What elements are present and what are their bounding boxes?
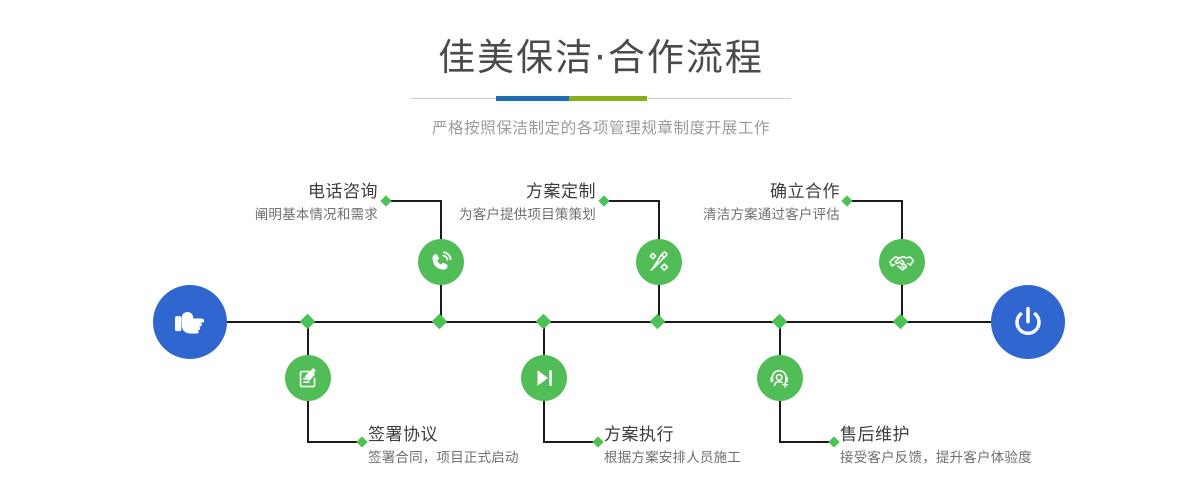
- divider-blue-segment: [496, 96, 569, 101]
- step-5-icon-node[interactable]: [879, 239, 925, 285]
- step-4-label: 方案执行 根据方案安排人员施工: [604, 425, 741, 468]
- header: 佳美保洁·合作流程 严格按照保洁制定的各项管理规章制度开展工作: [0, 0, 1202, 138]
- step-2-axis-marker: [300, 314, 316, 330]
- step-5-label-marker: [841, 195, 852, 206]
- step-2-desc: 签署合同，项目正式启动: [368, 448, 519, 468]
- step-3-icon-node[interactable]: [636, 239, 682, 285]
- step-1-title: 电话咨询: [150, 182, 378, 202]
- phone-call-icon: [428, 249, 454, 275]
- handshake-icon: [889, 249, 916, 276]
- step-3-label: 方案定制 为客户提供项目策策划: [370, 182, 596, 225]
- step-2-icon-node[interactable]: [285, 355, 331, 401]
- step-4-axis-marker: [536, 314, 552, 330]
- step-4-title: 方案执行: [604, 425, 741, 445]
- step-6-axis-marker: [772, 314, 788, 330]
- step-5-title: 确立合作: [612, 182, 840, 202]
- step-6-horizontal-connector: [779, 441, 834, 443]
- step-2-title: 签署协议: [368, 425, 519, 445]
- step-4-horizontal-connector: [543, 441, 598, 443]
- step-6-desc: 接受客户反馈，提升客户体验度: [840, 448, 1032, 468]
- step-5-label: 确立合作 清洁方案通过客户评估: [612, 182, 840, 225]
- pointing-hand-icon: [170, 302, 210, 342]
- step-3-title: 方案定制: [370, 182, 596, 202]
- step-6-label-marker: [828, 436, 839, 447]
- headset-support-icon: [767, 365, 793, 391]
- step-4-desc: 根据方案安排人员施工: [604, 448, 741, 468]
- step-1-label: 电话咨询 阐明基本情况和需求: [150, 182, 378, 225]
- page-subtitle: 严格按照保洁制定的各项管理规章制度开展工作: [0, 116, 1202, 138]
- step-1-desc: 阐明基本情况和需求: [150, 205, 378, 225]
- step-3-label-marker: [598, 195, 609, 206]
- step-5-desc: 清洁方案通过客户评估: [612, 205, 840, 225]
- step-2-horizontal-connector: [307, 441, 362, 443]
- step-6-icon-node[interactable]: [757, 355, 803, 401]
- step-6-label: 售后维护 接受客户反馈，提升客户体验度: [840, 425, 1032, 468]
- document-edit-icon: [295, 365, 321, 391]
- title-divider: [411, 93, 791, 105]
- step-2-label: 签署协议 签署合同，项目正式启动: [368, 425, 519, 468]
- timeline-axis: [160, 321, 1042, 323]
- end-endpoint: [991, 285, 1065, 359]
- step-5-axis-marker: [893, 314, 909, 330]
- play-next-icon: [531, 365, 557, 391]
- page-title: 佳美保洁·合作流程: [0, 0, 1202, 79]
- pencil-design-icon: [646, 249, 672, 275]
- process-flow-infographic: 佳美保洁·合作流程 严格按照保洁制定的各项管理规章制度开展工作: [0, 0, 1202, 502]
- step-6-title: 售后维护: [840, 425, 1032, 445]
- step-4-icon-node[interactable]: [521, 355, 567, 401]
- divider-green-segment: [569, 96, 647, 101]
- power-icon: [1008, 302, 1048, 342]
- step-1-icon-node[interactable]: [418, 239, 464, 285]
- step-4-label-marker: [592, 436, 603, 447]
- step-3-axis-marker: [650, 314, 666, 330]
- step-3-desc: 为客户提供项目策策划: [370, 205, 596, 225]
- step-2-label-marker: [356, 436, 367, 447]
- step-5-horizontal-connector: [847, 200, 902, 202]
- start-endpoint: [153, 285, 227, 359]
- step-1-axis-marker: [432, 314, 448, 330]
